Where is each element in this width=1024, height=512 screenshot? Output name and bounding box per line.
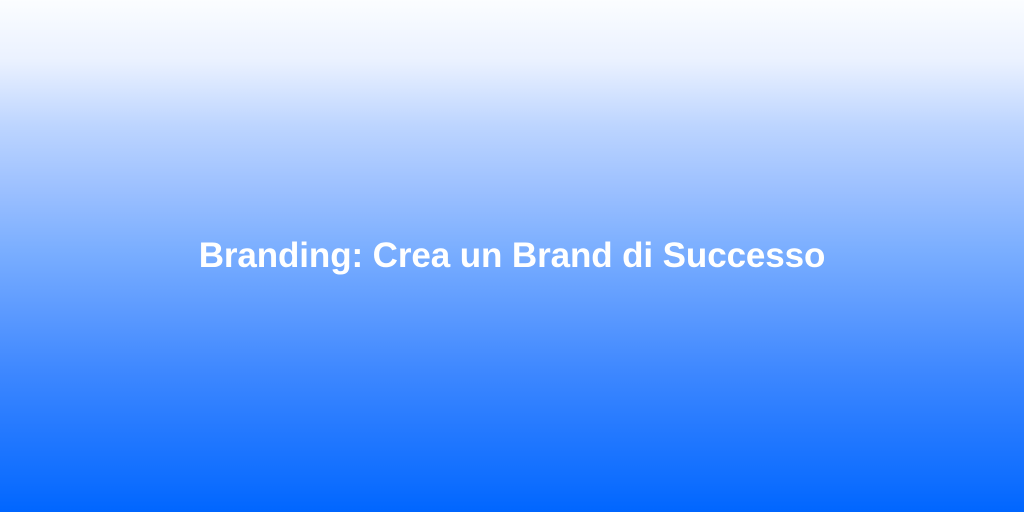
- page-title: Branding: Crea un Brand di Successo: [199, 234, 826, 278]
- hero-banner: Branding: Crea un Brand di Successo: [0, 0, 1024, 512]
- hero-title-container: Branding: Crea un Brand di Successo: [0, 0, 1024, 512]
